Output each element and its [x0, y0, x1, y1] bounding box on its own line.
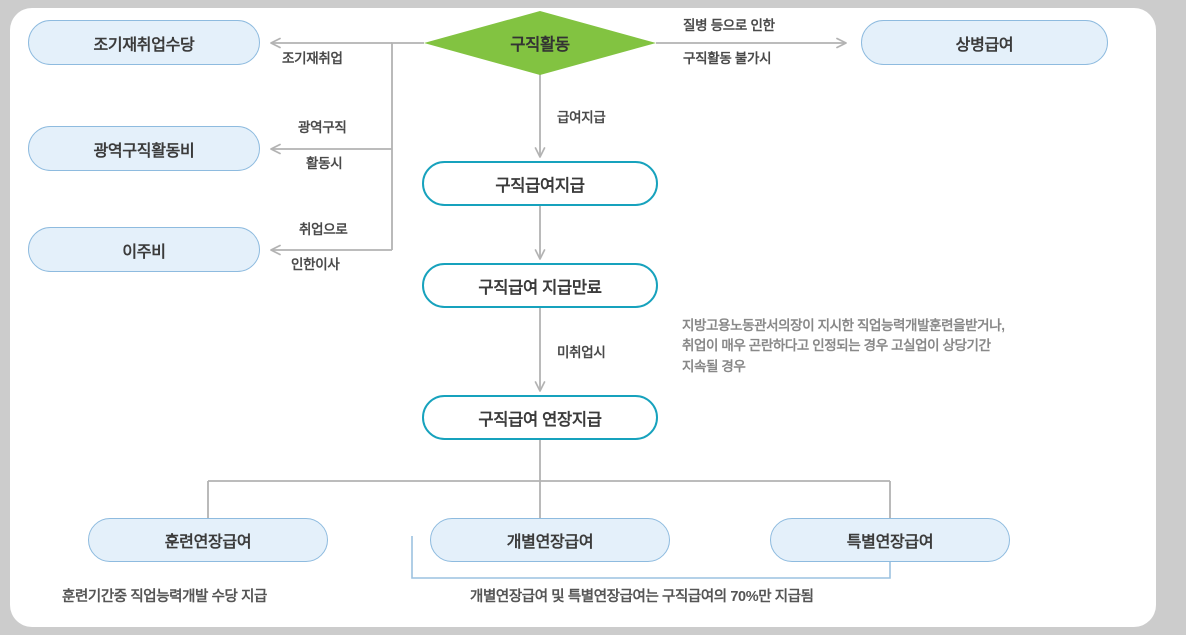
node-job-seeking-benefit-extension-label: 구직급여 연장지급 — [478, 406, 601, 430]
edge-start-to-left-trunk — [392, 43, 424, 250]
node-job-seeking-benefit-expiry[interactable]: 구직급여 지급만료 — [422, 263, 658, 308]
node-special-extension-benefit[interactable]: 특별연장급여 — [770, 518, 1010, 562]
caption-individual-special: 개별연장급여 및 특별연장급여는 구직급여의 70%만 지급됨 — [470, 585, 814, 606]
diagram-stage: 구직활동 상병급여 조기재취업수당 광역구직활동비 이주비 구직급여지급 구직급… — [10, 8, 1156, 627]
node-job-seeking-benefit-payment[interactable]: 구직급여지급 — [422, 161, 658, 206]
diagram-canvas: 구직활동 상병급여 조기재취업수당 광역구직활동비 이주비 구직급여지급 구직급… — [10, 8, 1156, 627]
node-start[interactable]: 구직활동 — [424, 11, 656, 75]
node-wide-area-job-search-cost[interactable]: 광역구직활동비 — [28, 126, 260, 171]
node-start-label: 구직활동 — [510, 31, 570, 55]
edge-label-to-relocation-line2: 인한이사 — [291, 255, 339, 275]
node-job-seeking-benefit-extension[interactable]: 구직급여 연장지급 — [422, 395, 658, 440]
node-early-reemployment-allowance-label: 조기재취업수당 — [94, 31, 195, 55]
node-job-seeking-benefit-expiry-label: 구직급여 지급만료 — [478, 274, 601, 298]
edge-label-to-early-reemployment: 조기재취업 — [282, 49, 343, 69]
caption-training: 훈련기간중 직업능력개발 수당 지급 — [62, 585, 267, 606]
note-extension-condition: 지방고용노동관서의장이 지시한 직업능력개발훈련을받거나, 취업이 매우 곤란하… — [682, 316, 1152, 377]
edge-label-to-wide-area-line2: 활동시 — [306, 154, 342, 174]
edge-extension-fanout — [208, 440, 890, 518]
node-sickness-benefit[interactable]: 상병급여 — [861, 20, 1108, 65]
node-wide-area-job-search-cost-label: 광역구직활동비 — [94, 137, 195, 161]
edge-label-to-payment: 급여지급 — [557, 108, 605, 128]
node-sickness-benefit-label: 상병급여 — [956, 31, 1014, 55]
edge-label-to-extension: 미취업시 — [557, 343, 605, 363]
edge-label-to-relocation-line1: 취업으로 — [299, 220, 347, 240]
node-individual-extension-benefit[interactable]: 개별연장급여 — [430, 518, 670, 562]
edge-label-to-sickness-line2: 구직활동 불가시 — [683, 49, 771, 69]
node-relocation-cost-label: 이주비 — [122, 238, 165, 262]
node-early-reemployment-allowance[interactable]: 조기재취업수당 — [28, 20, 260, 65]
node-relocation-cost[interactable]: 이주비 — [28, 227, 260, 272]
node-special-extension-benefit-label: 특별연장급여 — [847, 528, 934, 552]
node-training-extension-benefit-label: 훈련연장급여 — [165, 528, 252, 552]
edge-label-to-wide-area-line1: 광역구직 — [298, 118, 346, 138]
node-job-seeking-benefit-payment-label: 구직급여지급 — [495, 172, 584, 196]
node-training-extension-benefit[interactable]: 훈련연장급여 — [88, 518, 328, 562]
edge-label-to-sickness-line1: 질병 등으로 인한 — [683, 16, 775, 36]
node-individual-extension-benefit-label: 개별연장급여 — [507, 528, 594, 552]
